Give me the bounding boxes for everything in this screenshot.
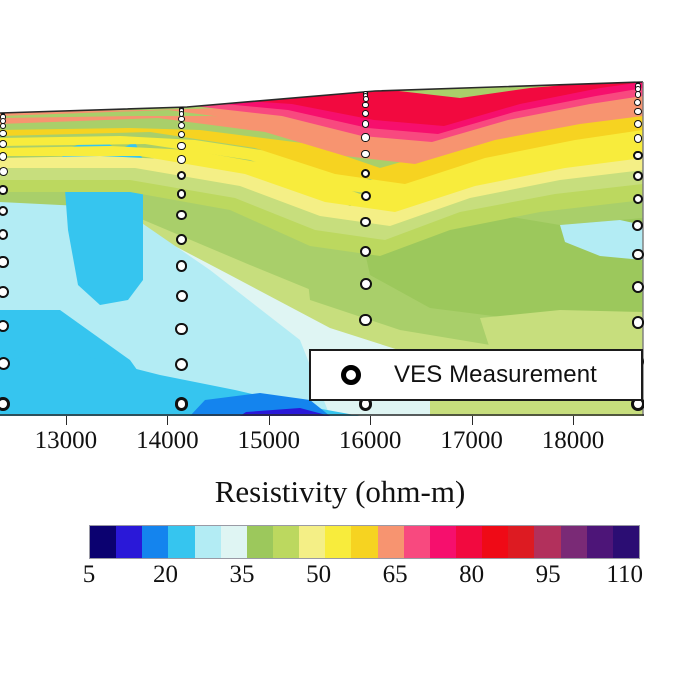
x-tick bbox=[269, 416, 270, 425]
colorbar bbox=[89, 525, 640, 559]
colorbar-tick-label: 5 bbox=[83, 561, 96, 589]
x-axis: 130001400015000160001700018000 bbox=[0, 416, 644, 456]
colorbar-tick-label: 80 bbox=[459, 561, 484, 589]
x-tick-label: 18000 bbox=[542, 427, 605, 455]
colorbar-swatch-16 bbox=[508, 526, 534, 558]
x-tick bbox=[370, 416, 371, 425]
colorbar-swatch-9 bbox=[325, 526, 351, 558]
x-tick bbox=[472, 416, 473, 425]
colorbar-swatch-12 bbox=[404, 526, 430, 558]
x-tick bbox=[66, 416, 67, 425]
x-tick bbox=[167, 416, 168, 425]
x-tick-label: 13000 bbox=[35, 427, 98, 455]
colorbar-swatch-6 bbox=[247, 526, 273, 558]
x-tick-label: 14000 bbox=[136, 427, 199, 455]
colorbar-swatch-18 bbox=[561, 526, 587, 558]
colorbar-swatch-14 bbox=[456, 526, 482, 558]
colorbar-tick-label: 35 bbox=[230, 561, 255, 589]
colorbar-tick-label: 110 bbox=[606, 561, 643, 589]
colorbar-swatch-15 bbox=[482, 526, 508, 558]
ves-marker-icon bbox=[341, 365, 361, 385]
x-tick bbox=[573, 416, 574, 425]
colorbar-swatch-17 bbox=[534, 526, 560, 558]
x-tick-label: 16000 bbox=[339, 427, 402, 455]
colorbar-swatch-3 bbox=[168, 526, 194, 558]
resistivity-figure: VES Measurement 130001400015000160001700… bbox=[0, 0, 680, 680]
colorbar-swatch-2 bbox=[142, 526, 168, 558]
colorbar-swatch-20 bbox=[613, 526, 639, 558]
colorbar-swatch-0 bbox=[90, 526, 116, 558]
colorbar-tick-label: 65 bbox=[383, 561, 408, 589]
legend-label: VES Measurement bbox=[394, 361, 597, 389]
legend-box[interactable]: VES Measurement bbox=[309, 349, 643, 401]
colorbar-tick-labels: 5203550658095110 bbox=[0, 561, 680, 595]
colorbar-swatch-7 bbox=[273, 526, 299, 558]
colorbar-title: Resistivity (ohm-m) bbox=[0, 474, 680, 510]
colorbar-swatch-11 bbox=[378, 526, 404, 558]
colorbar-swatch-1 bbox=[116, 526, 142, 558]
colorbar-swatch-13 bbox=[430, 526, 456, 558]
colorbar-tick-label: 20 bbox=[153, 561, 178, 589]
colorbar-swatch-5 bbox=[221, 526, 247, 558]
x-tick-label: 15000 bbox=[238, 427, 301, 455]
colorbar-tick-label: 95 bbox=[536, 561, 561, 589]
colorbar-swatch-8 bbox=[299, 526, 325, 558]
colorbar-swatch-4 bbox=[195, 526, 221, 558]
colorbar-swatch-19 bbox=[587, 526, 613, 558]
x-tick-label: 17000 bbox=[440, 427, 503, 455]
colorbar-swatch-10 bbox=[351, 526, 377, 558]
colorbar-tick-label: 50 bbox=[306, 561, 331, 589]
